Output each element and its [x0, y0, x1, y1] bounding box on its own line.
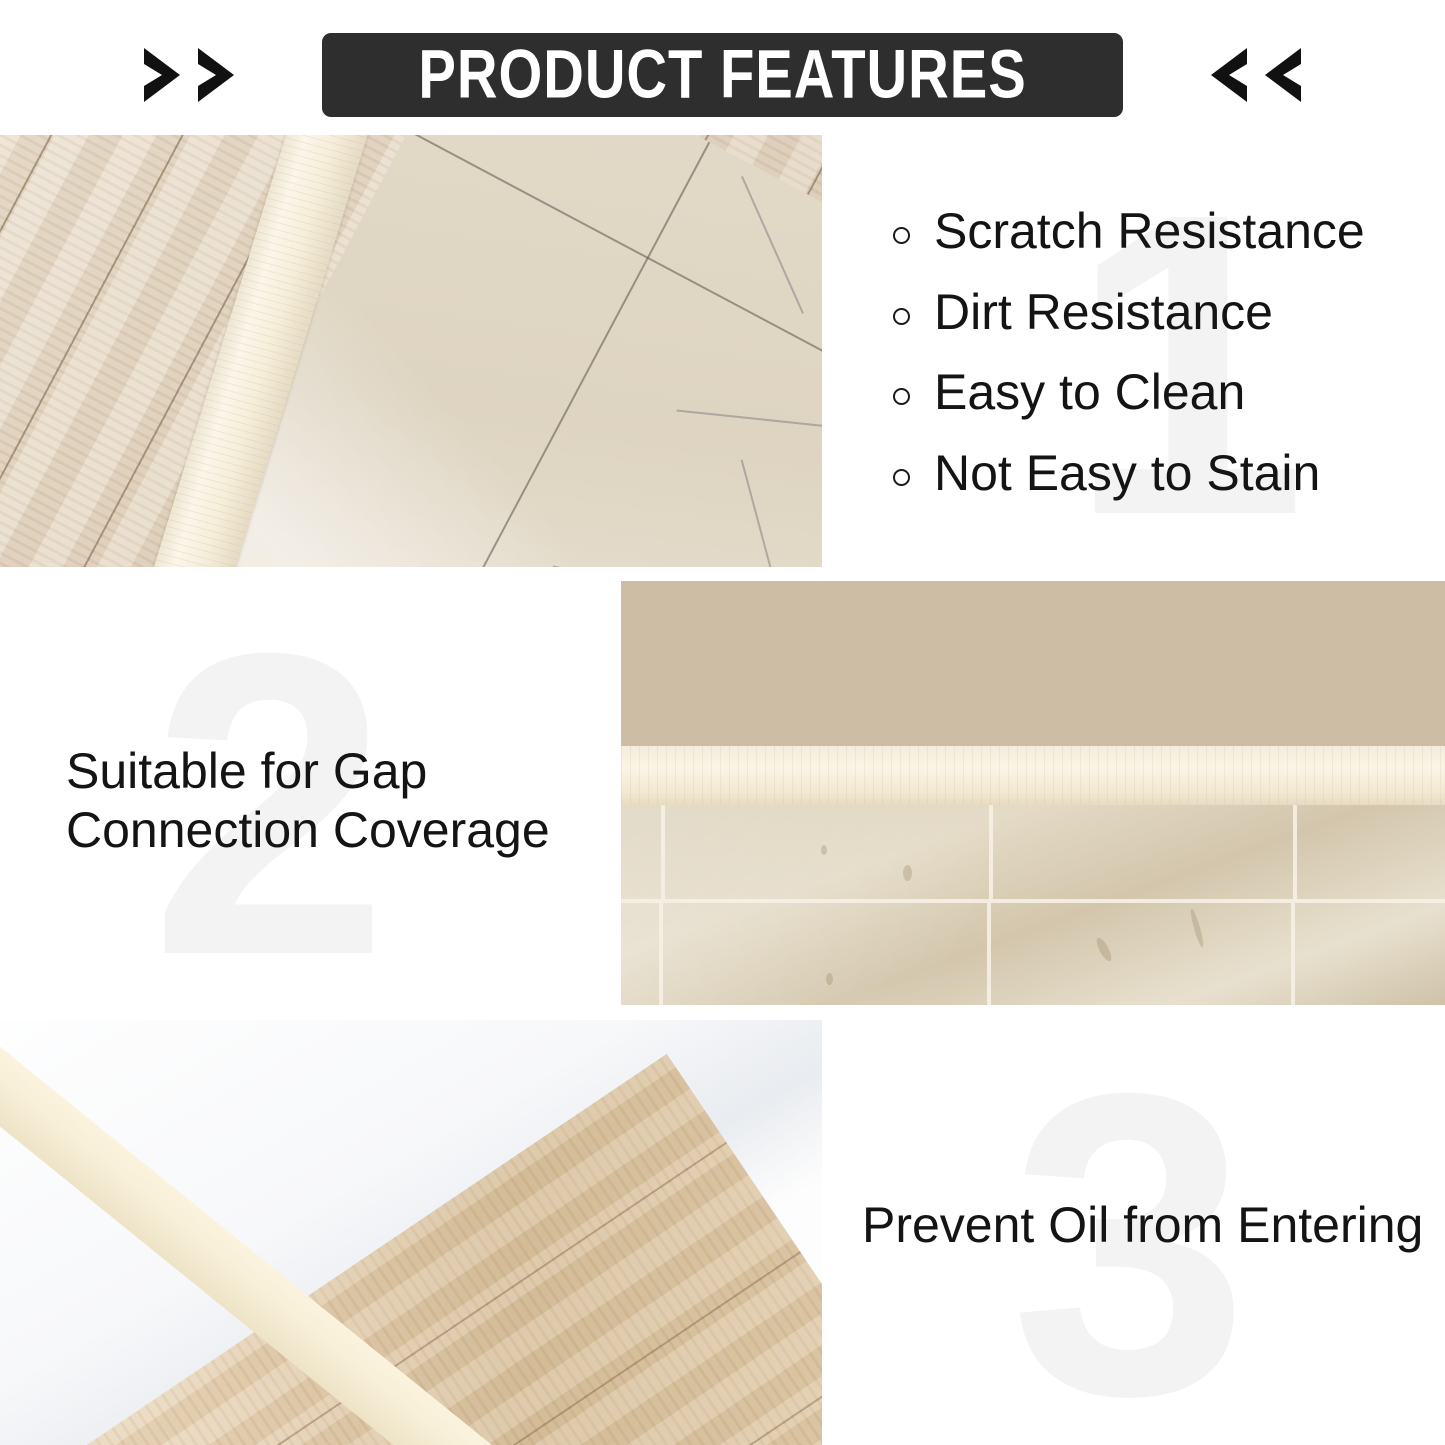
section-3-photo	[0, 1020, 822, 1445]
chevron-left-icon-1	[1207, 44, 1251, 106]
section-2-caption: Suitable for Gap Connection Coverage	[66, 742, 586, 860]
section-3-caption: Prevent Oil from Entering	[862, 1196, 1442, 1255]
double-chevron-left-icon	[1207, 44, 1305, 106]
dark-wood-plank-texture	[621, 581, 1445, 749]
feature-label: Dirt Resistance	[934, 286, 1273, 339]
section-1-photo	[0, 135, 822, 567]
header: PRODUCT FEATURES	[0, 0, 1445, 135]
list-item: Not Easy to Stain	[893, 447, 1433, 500]
page-title-banner: PRODUCT FEATURES	[322, 33, 1123, 117]
transition-strip	[621, 746, 1445, 808]
circle-outline-bullet-icon	[893, 388, 910, 405]
chevron-right-icon-2	[194, 44, 238, 106]
circle-outline-bullet-icon	[893, 227, 910, 244]
chevron-right-icon-1	[140, 44, 184, 106]
page-title: PRODUCT FEATURES	[418, 41, 1026, 109]
double-chevron-right-icon	[140, 44, 238, 106]
section-2-photo	[621, 581, 1445, 1005]
circle-outline-bullet-icon	[893, 469, 910, 486]
feature-label: Scratch Resistance	[934, 205, 1365, 258]
travertine-tile-texture	[621, 805, 1445, 1005]
feature-list: Scratch Resistance Dirt Resistance Easy …	[893, 205, 1433, 527]
list-item: Dirt Resistance	[893, 286, 1433, 339]
list-item: Easy to Clean	[893, 366, 1433, 419]
caption-line-2: Connection Coverage	[66, 801, 586, 860]
product-features-infographic: PRODUCT FEATURES 1 Scrat	[0, 0, 1445, 1445]
feature-label: Easy to Clean	[934, 366, 1245, 419]
circle-outline-bullet-icon	[893, 308, 910, 325]
chevron-left-icon-2	[1261, 44, 1305, 106]
feature-label: Not Easy to Stain	[934, 447, 1320, 500]
list-item: Scratch Resistance	[893, 205, 1433, 258]
caption-line-1: Suitable for Gap	[66, 742, 586, 801]
caption-line-1: Prevent Oil from Entering	[862, 1196, 1442, 1255]
